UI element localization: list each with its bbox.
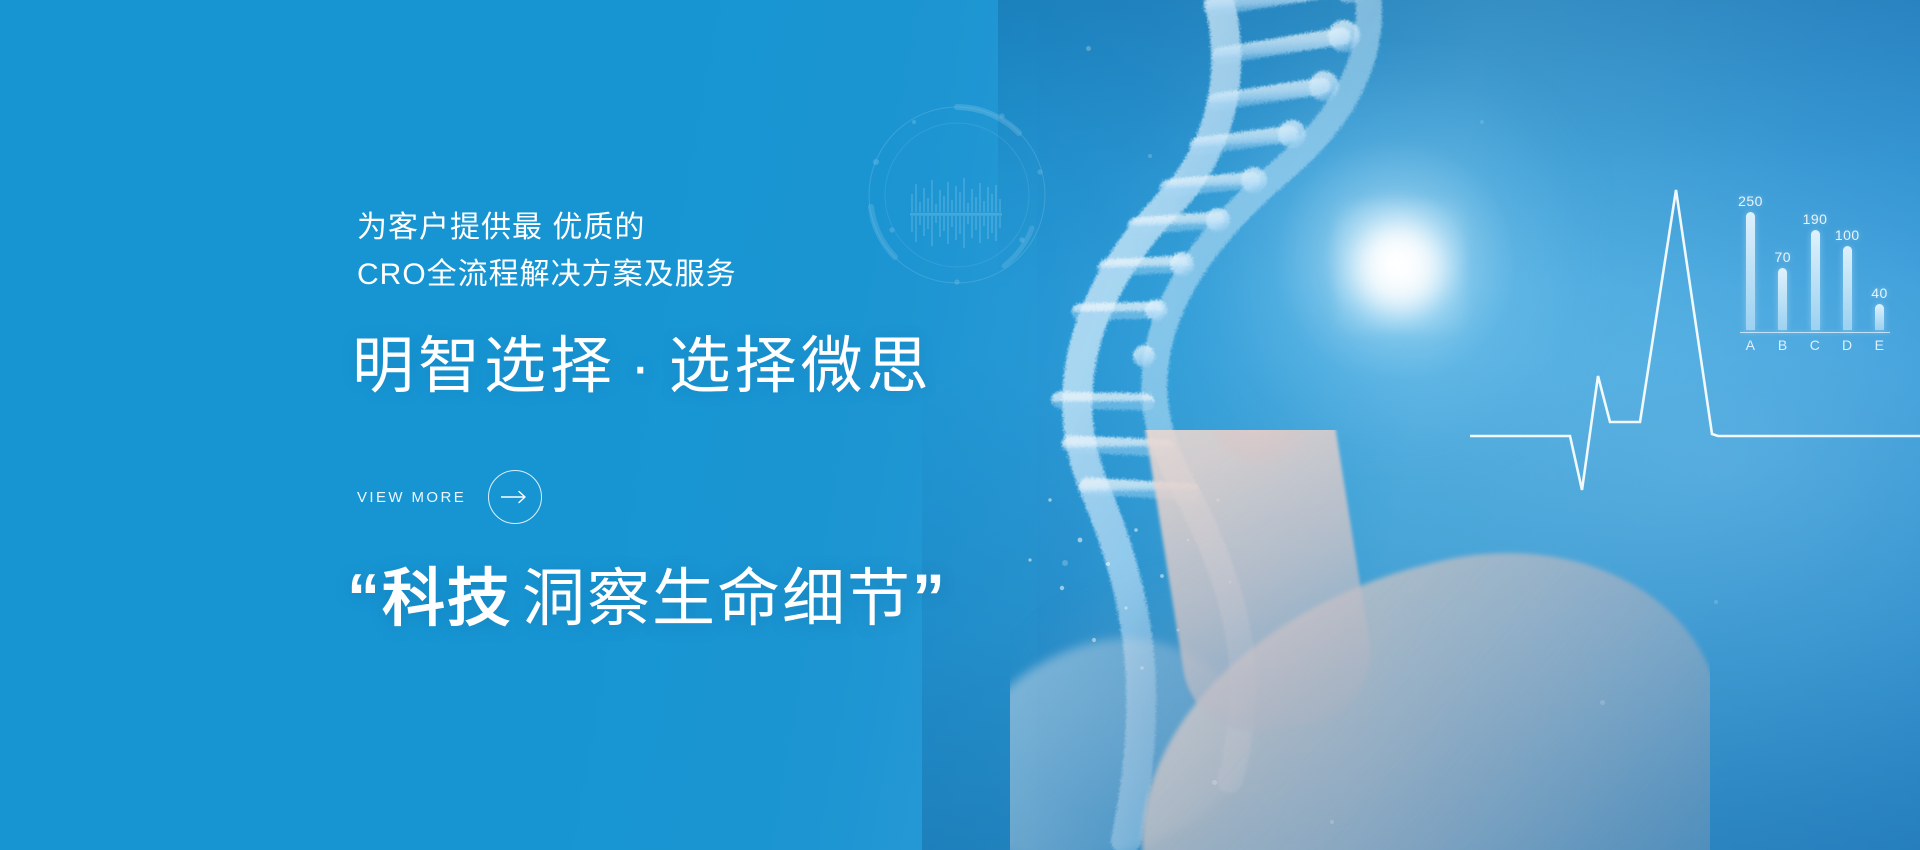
hero-content: 为客户提供最 优质的 CRO全流程解决方案及服务 明智选择·选择微思 VIEW … [357,0,1257,850]
subheading-line-2: CRO全流程解决方案及服务 [357,251,737,298]
chart-value-e: 40 [1871,285,1888,301]
chart-cat-b: B [1776,337,1789,353]
chart-bar-c: 190 [1809,190,1822,330]
chart-cat-c: C [1809,337,1822,353]
headline-left: 明智选择 [352,332,616,401]
chart-bar-e: 40 [1873,190,1886,330]
quote-close-mark: ” [912,560,947,634]
headline-separator: · [616,332,669,401]
bar-rect-d [1843,246,1852,330]
bar-rect-b [1778,268,1787,330]
chart-bar-a: 250 [1744,190,1757,330]
chart-value-c: 190 [1803,211,1828,227]
particle-dot [1480,120,1484,124]
chart-value-d: 100 [1835,227,1860,243]
subheading-line-1: 为客户提供最 优质的 [357,211,645,244]
chart-value-a: 250 [1738,193,1763,209]
bar-chart-overlay: 250 70 190 100 40 A B C [1740,190,1890,375]
quote-light-text: 洞察生命细节 [512,564,912,634]
hero-quote: “科技洞察生命细节” [347,558,947,638]
arrow-right-icon [501,490,529,504]
hero-headline: 明智选择·选择微思 [352,330,933,403]
chart-cat-e: E [1873,337,1886,353]
bar-rect-e [1875,304,1884,330]
hero-subheading: 为客户提供最 优质的 CRO全流程解决方案及服务 [357,204,737,298]
view-more-circle[interactable] [488,470,542,524]
particle-dot [1714,600,1718,604]
quote-open-mark: “ [347,560,382,634]
quote-strong-text: 科技 [382,564,512,634]
hero-banner: 250 70 190 100 40 A B C [0,0,1920,850]
glow-core-center [1335,203,1465,333]
view-more-label: VIEW MORE [357,489,466,506]
particle-dot [1330,820,1334,824]
bar-rect-a [1746,212,1755,330]
particle-dot [1600,700,1605,705]
view-more-button[interactable]: VIEW MORE [357,470,542,524]
chart-bar-b: 70 [1776,190,1789,330]
chart-category-labels: A B C D E [1740,333,1890,353]
chart-cat-a: A [1744,337,1757,353]
bar-rect-c [1811,230,1820,330]
chart-bar-d: 100 [1841,190,1854,330]
headline-right: 选择微思 [669,332,933,401]
chart-value-b: 70 [1774,249,1791,265]
chart-cat-d: D [1841,337,1854,353]
chart-plot-area: 250 70 190 100 40 [1740,190,1890,330]
